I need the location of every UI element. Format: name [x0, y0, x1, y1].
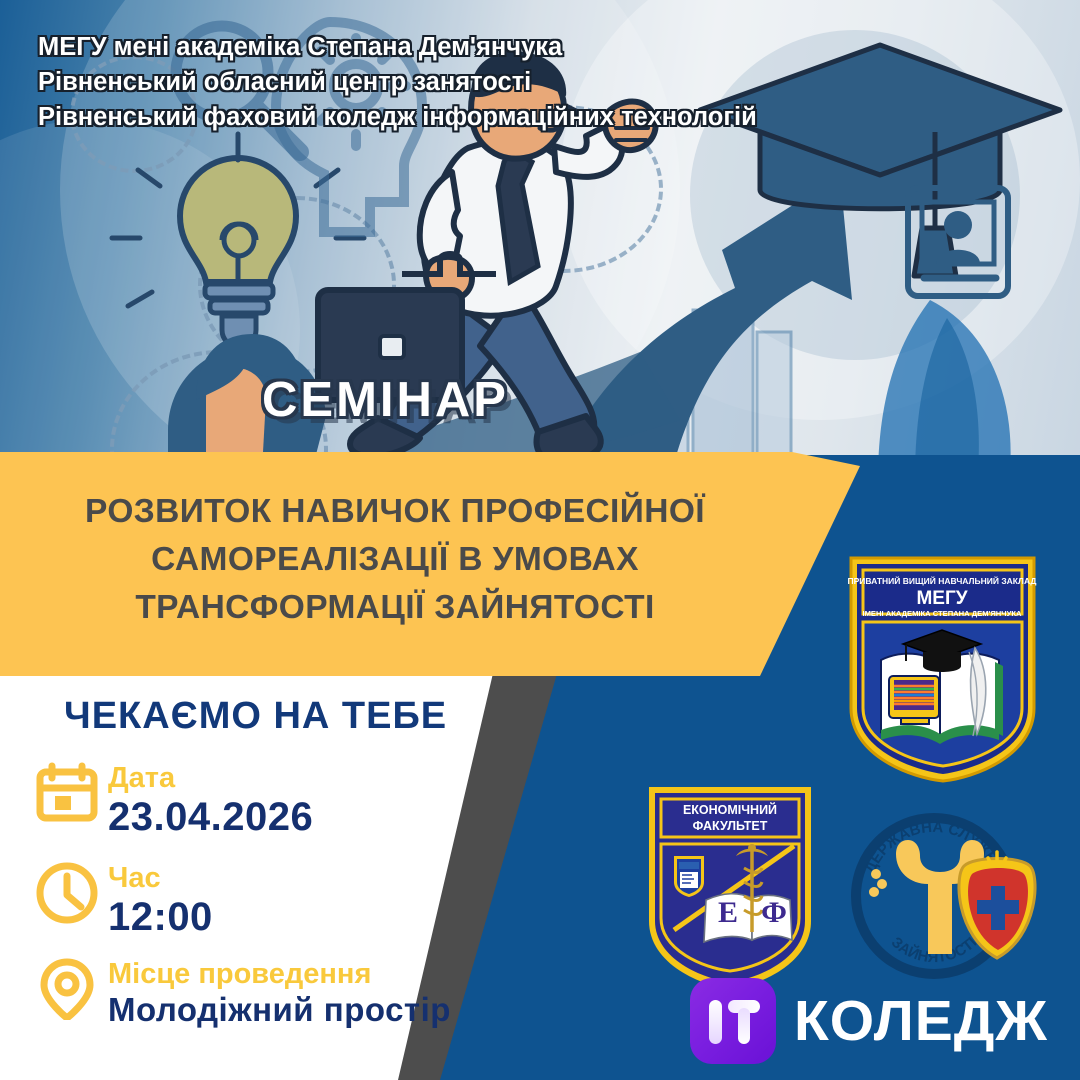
detail-row-place: Місце проведення Молодіжний простір [36, 958, 451, 1030]
organizer-line: Рівненський фаховий коледж інформаційних… [38, 100, 757, 135]
megu-name: МЕГУ [916, 588, 967, 609]
clock-icon [36, 862, 98, 924]
econ-line-1: ЕКОНОМІЧНИЙ [683, 802, 777, 817]
detail-label: Місце проведення [108, 958, 451, 990]
title-line: САМОРЕАЛІЗАЦІЇ В УМОВАХ [0, 536, 790, 584]
econ-line-2: ФАКУЛЬТЕТ [693, 819, 768, 833]
it-college-word: КОЛЕДЖ [794, 993, 1048, 1050]
it-college-logo: КОЛЕДЖ [690, 978, 1048, 1064]
organizer-line: Рівненський обласний центр занятості [38, 65, 757, 100]
economics-faculty-emblem: ЕКОНОМІЧНИЙ ФАКУЛЬТЕТ Е Ф [644, 782, 816, 994]
it-letter-i [709, 1000, 722, 1044]
employment-service-emblem: ДЕРЖАВНА СЛУЖБА ЗАЙНЯТОСТІ [848, 812, 1046, 982]
detail-value: Молодіжний простір [108, 990, 451, 1030]
detail-value: 23.04.2026 [108, 794, 313, 840]
megu-emblem: ПРИВАТНИЙ ВИЩИЙ НАВЧАЛЬНИЙ ЗАКЛАД МЕГУ І… [845, 552, 1040, 787]
detail-label: Дата [108, 762, 313, 794]
detail-value: 12:00 [108, 894, 213, 940]
detail-row-date: Дата 23.04.2026 [36, 762, 313, 840]
it-letter-t-stem [738, 1008, 750, 1044]
event-type-label: СЕМІНАР [262, 372, 509, 428]
invite-heading: ЧЕКАЄМО НА ТЕБЕ [64, 695, 447, 738]
profile-card-icon [908, 188, 1008, 296]
title-line: РОЗВИТОК НАВИЧОК ПРОФЕСІЙНОЇ [0, 488, 790, 536]
calendar-icon [36, 762, 98, 824]
organizers-header: МЕГУ мені академіка Степана Дем'янчука Р… [38, 30, 757, 135]
detail-row-time: Час 12:00 [36, 862, 213, 940]
poster-canvas: СЕМІНАР МЕГУ мені академіка Степана Дем'… [0, 0, 1080, 1080]
econ-letter-e: Е [718, 896, 738, 929]
location-icon [36, 958, 98, 1020]
it-mark-icon [690, 978, 776, 1064]
megu-sub-text: ІМЕНІ АКАДЕМІКА СТЕПАНА ДЕМ'ЯНЧУКА [863, 609, 1022, 618]
megu-top-text: ПРИВАТНИЙ ВИЩИЙ НАВЧАЛЬНИЙ ЗАКЛАД [848, 575, 1037, 586]
title-line: ТРАНСФОРМАЦІЇ ЗАЙНЯТОСТІ [0, 584, 790, 632]
econ-letter-f: Ф [761, 896, 787, 929]
organizer-line: МЕГУ мені академіка Степана Дем'янчука [38, 30, 757, 65]
detail-label: Час [108, 862, 213, 894]
blue-strip-decoration [760, 300, 1080, 470]
seminar-title: РОЗВИТОК НАВИЧОК ПРОФЕСІЙНОЇ САМОРЕАЛІЗА… [0, 488, 790, 632]
